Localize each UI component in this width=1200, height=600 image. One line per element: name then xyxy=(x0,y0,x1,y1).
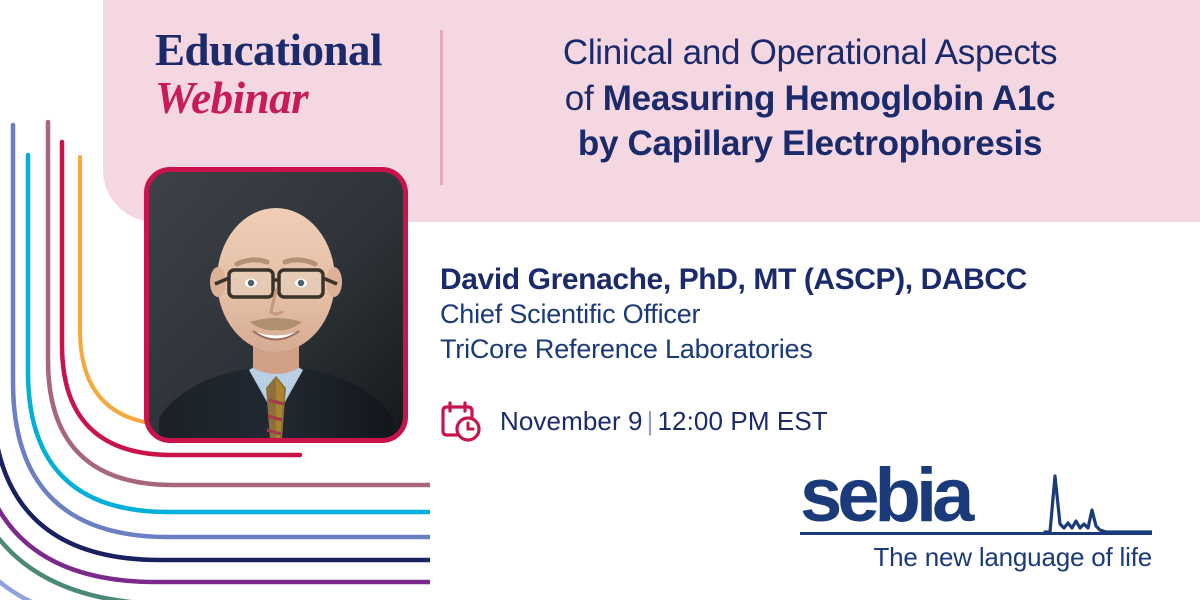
event-separator: | xyxy=(643,406,658,436)
speaker-role: Chief Scientific Officer xyxy=(440,297,1160,332)
speaker-portrait xyxy=(144,167,408,443)
title-line-1: Clinical and Operational Aspects xyxy=(460,30,1160,76)
event-date: November 9 xyxy=(500,406,643,436)
calendar-clock-icon xyxy=(438,398,484,444)
speaker-organization: TriCore Reference Laboratories xyxy=(440,332,1160,367)
eyebrow-webinar: Webinar xyxy=(155,73,420,123)
eyebrow-educational: Educational xyxy=(155,28,420,73)
title-line-3-bold: by Capillary Electrophoresis xyxy=(578,124,1042,163)
page-title: Clinical and Operational Aspects of Meas… xyxy=(460,30,1160,167)
title-line-2-bold: Measuring Hemoglobin A1c xyxy=(603,79,1055,118)
event-datetime-text: November 9|12:00 PM EST xyxy=(500,406,828,437)
logo-tagline: The new language of life xyxy=(800,542,1152,573)
eyebrow-block: Educational Webinar xyxy=(155,28,420,123)
svg-text:sebia: sebia xyxy=(800,466,975,534)
sebia-wordmark-icon: sebia xyxy=(800,466,1152,534)
title-line-2-prefix: of xyxy=(565,79,603,118)
sebia-logo: sebia The new language of life xyxy=(800,466,1152,573)
event-datetime-row: November 9|12:00 PM EST xyxy=(438,398,828,444)
event-time: 12:00 PM EST xyxy=(657,406,827,436)
title-line-3: by Capillary Electrophoresis xyxy=(460,121,1160,167)
speaker-name: David Grenache, PhD, MT (ASCP), DABCC xyxy=(440,262,1160,297)
title-line-2: of Measuring Hemoglobin A1c xyxy=(460,76,1160,122)
vertical-divider xyxy=(440,30,443,185)
speaker-block: David Grenache, PhD, MT (ASCP), DABCC Ch… xyxy=(440,262,1160,368)
